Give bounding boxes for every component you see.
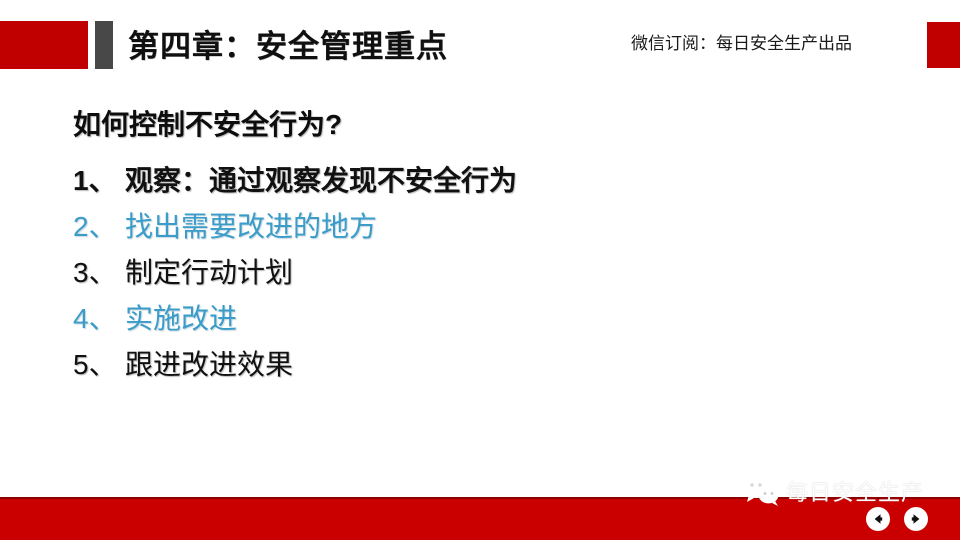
list-item-number: 5、: [73, 342, 125, 388]
brand-watermark: 每日安全生产: [742, 474, 924, 508]
list-item-label: 观察：通过观察发现不安全行为: [125, 158, 517, 204]
list-item-label: 找出需要改进的地方: [125, 204, 377, 250]
list-item: 3、 制定行动计划: [73, 250, 893, 296]
content-heading: 如何控制不安全行为?: [73, 103, 342, 143]
list-item: 5、 跟进改进效果: [73, 342, 893, 388]
slide-navigation: [866, 507, 928, 531]
numbered-list: 1、 观察：通过观察发现不安全行为 2、 找出需要改进的地方 3、 制定行动计划…: [73, 158, 893, 388]
slide-canvas: 第四章：安全管理重点 微信订阅：每日安全生产出品 如何控制不安全行为? 1、 观…: [0, 0, 960, 540]
list-item-number: 3、: [73, 250, 125, 296]
list-item: 2、 找出需要改进的地方: [73, 204, 893, 250]
list-item: 1、 观察：通过观察发现不安全行为: [73, 158, 893, 204]
header-gray-accent-bar: [95, 21, 113, 69]
header-red-accent-block-left: [0, 21, 88, 69]
next-slide-button[interactable]: [904, 507, 928, 531]
arrow-left-icon: [870, 511, 886, 527]
list-item-label: 实施改进: [125, 296, 237, 342]
subscription-note: 微信订阅：每日安全生产出品: [631, 32, 852, 56]
list-item-number: 4、: [73, 296, 125, 342]
prev-slide-button[interactable]: [866, 507, 890, 531]
list-item-number: 1、: [73, 158, 125, 204]
list-item: 4、 实施改进: [73, 296, 893, 342]
list-item-label: 制定行动计划: [125, 250, 293, 296]
arrow-right-icon: [908, 511, 924, 527]
header-red-accent-block-right: [927, 22, 960, 68]
page-title: 第四章：安全管理重点: [128, 27, 448, 67]
list-item-number: 2、: [73, 204, 125, 250]
list-item-label: 跟进改进效果: [125, 342, 293, 388]
brand-name: 每日安全生产: [786, 475, 924, 507]
wechat-logo-icon: [742, 475, 782, 507]
